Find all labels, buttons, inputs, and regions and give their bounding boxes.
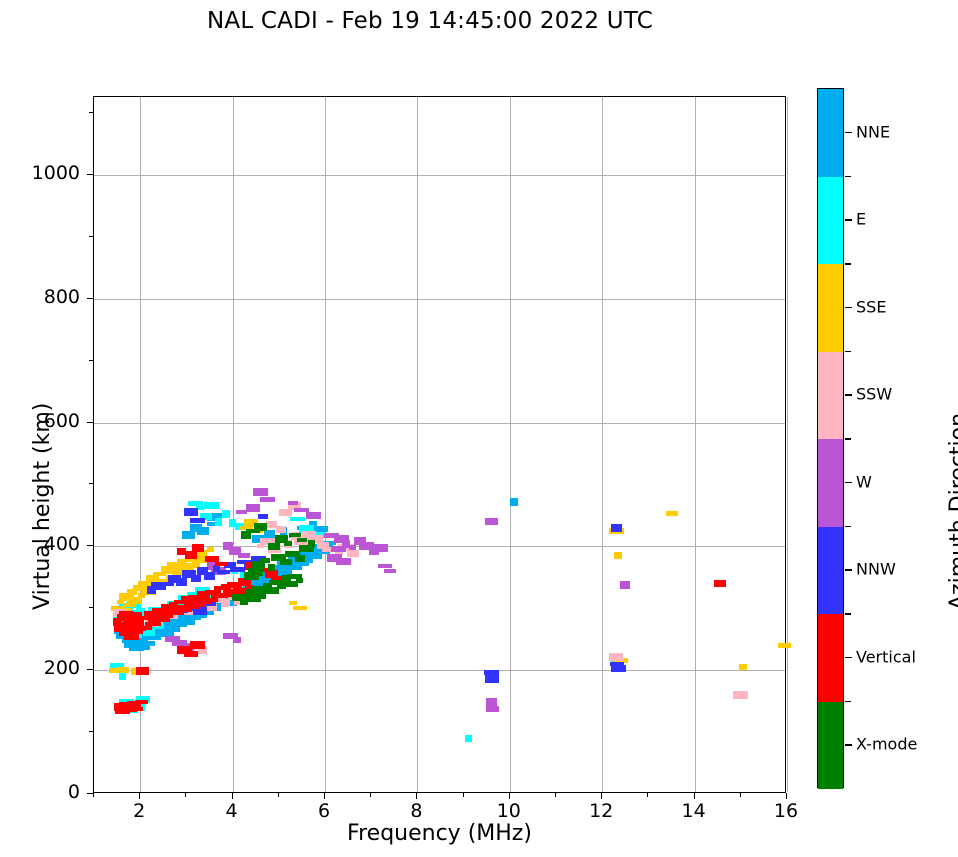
y-axis-tick — [87, 669, 93, 670]
data-point — [215, 518, 222, 526]
colorbar[interactable] — [817, 88, 844, 788]
data-point — [293, 606, 307, 610]
colorbar-title: Azimuth Direction — [946, 413, 958, 610]
data-point — [185, 551, 197, 559]
colorbar-label-nne: NNE — [856, 122, 890, 141]
data-point — [188, 501, 203, 506]
data-point — [238, 553, 250, 558]
data-point — [182, 531, 195, 539]
data-point — [131, 707, 143, 711]
data-point — [308, 540, 315, 547]
data-point — [306, 512, 321, 519]
x-axis-minor-tick — [370, 793, 371, 797]
data-point — [117, 667, 129, 673]
data-point — [384, 569, 396, 573]
x-axis-minor-tick — [555, 793, 556, 797]
colorbar-band-separator-tick — [845, 176, 851, 178]
data-point — [264, 530, 275, 538]
data-point — [739, 664, 747, 670]
colorbar-tick — [845, 657, 852, 659]
x-axis-title: Frequency (MHz) — [93, 821, 786, 846]
data-point — [373, 544, 388, 552]
data-point — [276, 526, 286, 533]
data-point — [614, 552, 622, 559]
y-axis-tick-label: 200 — [10, 657, 80, 679]
data-point — [230, 567, 245, 572]
data-point — [378, 564, 392, 568]
colorbar-band-separator-tick — [845, 351, 851, 353]
colorbar-band-separator-tick — [845, 438, 851, 440]
colorbar-tick — [845, 744, 852, 746]
y-axis-minor-tick — [89, 112, 93, 113]
colorbar-label-e: E — [856, 210, 866, 229]
y-axis-tick-label: 0 — [10, 781, 80, 803]
x-axis-minor-tick — [647, 793, 648, 797]
data-point — [151, 582, 166, 590]
data-point — [714, 580, 726, 587]
data-point — [184, 508, 198, 516]
data-point — [190, 641, 205, 649]
data-point — [297, 538, 307, 542]
x-axis-tick — [324, 793, 325, 799]
x-axis-tick — [786, 793, 787, 799]
x-axis-tick — [416, 793, 417, 799]
data-point — [465, 735, 472, 742]
data-point — [289, 601, 297, 605]
data-point — [258, 514, 268, 519]
x-axis-tick-label: 12 — [571, 800, 631, 822]
data-point — [233, 637, 241, 643]
y-axis-tick-label: 1000 — [10, 162, 80, 184]
data-point — [217, 570, 230, 574]
colorbar-label-w: W — [856, 472, 872, 491]
data-point — [259, 558, 270, 563]
colorbar-tick — [845, 482, 852, 484]
data-point — [334, 535, 349, 543]
colorbar-band-ssw[interactable] — [818, 352, 843, 440]
data-point — [611, 665, 626, 672]
data-point — [204, 502, 219, 509]
ionogram-figure: NAL CADI - Feb 19 14:45:00 2022 UTC 2468… — [0, 0, 958, 857]
colorbar-label-vertical: Vertical — [856, 647, 916, 666]
colorbar-label-x-mode: X-mode — [856, 735, 917, 754]
y-axis-minor-tick — [89, 607, 93, 608]
data-point — [296, 578, 303, 583]
x-axis-tick-label: 8 — [386, 800, 446, 822]
colorbar-band-separator-tick — [845, 263, 851, 265]
x-axis-tick-label: 10 — [479, 800, 539, 822]
x-axis-tick-label: 6 — [294, 800, 354, 822]
data-point — [289, 533, 301, 537]
x-axis-tick-label: 4 — [202, 800, 262, 822]
x-axis-tick — [694, 793, 695, 799]
colorbar-band-e[interactable] — [818, 177, 843, 265]
x-axis-minor-tick — [463, 793, 464, 797]
data-point — [349, 545, 356, 550]
data-point — [253, 488, 268, 496]
colorbar-band-x-mode[interactable] — [818, 702, 843, 790]
y-axis-minor-tick — [89, 236, 93, 237]
x-axis-tick — [509, 793, 510, 799]
colorbar-tick — [845, 219, 852, 221]
colorbar-label-nnw: NNW — [856, 560, 896, 579]
data-point — [192, 544, 204, 552]
data-point — [284, 541, 292, 546]
data-point — [485, 518, 498, 525]
x-axis-tick — [232, 793, 233, 799]
data-point — [119, 672, 126, 680]
data-point — [280, 559, 292, 565]
data-point — [484, 670, 499, 675]
colorbar-tick — [845, 569, 852, 571]
colorbar-label-ssw: SSW — [856, 385, 892, 404]
colorbar-band-nne[interactable] — [818, 89, 843, 177]
y-axis-tick — [87, 422, 93, 423]
y-axis-minor-tick — [89, 731, 93, 732]
data-point — [666, 511, 678, 516]
data-point — [611, 524, 622, 532]
x-axis-minor-tick — [740, 793, 741, 797]
data-point — [236, 510, 247, 514]
x-axis-minor-tick — [185, 793, 186, 797]
colorbar-label-sse: SSE — [856, 297, 886, 316]
data-points-layer — [94, 97, 785, 792]
x-axis-minor-tick — [278, 793, 279, 797]
page-title: NAL CADI - Feb 19 14:45:00 2022 UTC — [0, 8, 860, 34]
data-point — [136, 667, 149, 675]
y-axis-minor-tick — [89, 483, 93, 484]
y-axis-tick — [87, 174, 93, 175]
data-point — [248, 568, 263, 576]
x-axis-tick-label: 16 — [756, 800, 816, 822]
x-axis-tick — [601, 793, 602, 799]
colorbar-band-w[interactable] — [818, 439, 843, 527]
colorbar-band-nnw[interactable] — [818, 527, 843, 615]
y-axis-tick-label: 800 — [10, 286, 80, 308]
data-point — [135, 700, 148, 704]
colorbar-tick — [845, 394, 852, 396]
data-point — [184, 651, 198, 657]
data-point — [609, 653, 623, 661]
data-point — [207, 547, 214, 552]
data-point — [257, 544, 264, 548]
data-point — [510, 498, 518, 506]
data-point — [176, 578, 187, 586]
y-axis-tick — [87, 545, 93, 546]
data-point — [290, 517, 305, 521]
data-point — [260, 497, 275, 502]
data-point — [204, 572, 215, 580]
data-point — [288, 501, 298, 505]
data-point — [246, 504, 260, 512]
data-point — [778, 643, 791, 648]
y-axis-tick — [87, 298, 93, 299]
colorbar-tick — [845, 132, 852, 134]
y-axis-tick — [87, 793, 93, 794]
gridline-vertical — [787, 97, 788, 792]
data-point — [254, 523, 267, 531]
colorbar-band-sse[interactable] — [818, 264, 843, 352]
colorbar-tick — [845, 307, 852, 309]
y-axis-title: Virtual height (km) — [30, 403, 55, 610]
data-point — [215, 562, 227, 566]
data-point — [268, 543, 280, 550]
data-point — [620, 581, 630, 589]
data-point — [733, 691, 748, 699]
data-point — [140, 641, 155, 646]
data-point — [190, 518, 205, 523]
data-point — [127, 597, 142, 604]
data-point — [268, 564, 275, 571]
data-point — [221, 599, 230, 607]
data-point — [485, 675, 499, 683]
data-point — [295, 555, 305, 562]
y-axis-minor-tick — [89, 360, 93, 361]
x-axis-tick-label: 2 — [109, 800, 169, 822]
plot-area — [93, 96, 786, 793]
data-point — [222, 510, 230, 518]
data-point — [191, 575, 201, 582]
colorbar-band-separator-tick — [845, 526, 851, 528]
x-axis-tick-label: 14 — [664, 800, 724, 822]
data-point — [336, 558, 351, 565]
data-point — [197, 527, 209, 535]
data-point — [347, 550, 359, 557]
x-axis-minor-tick — [93, 793, 94, 797]
colorbar-band-vertical[interactable] — [818, 614, 843, 702]
x-axis-tick — [139, 793, 140, 799]
colorbar-band-separator-tick — [845, 613, 851, 615]
colorbar-band-separator-tick — [845, 701, 851, 703]
data-point — [486, 706, 499, 712]
